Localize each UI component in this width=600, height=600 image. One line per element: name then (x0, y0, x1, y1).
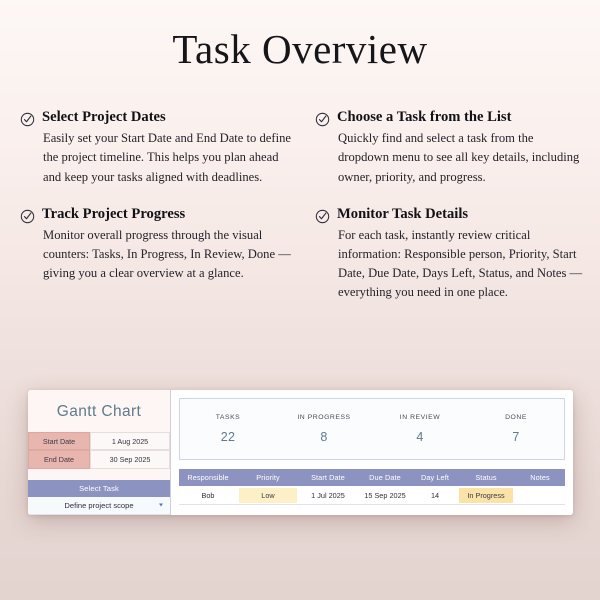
feature-text: Select Project Dates Easily set your Sta… (42, 108, 307, 187)
circled-check-icon (315, 209, 330, 224)
page-title: Task Overview (0, 0, 600, 72)
column-header-start-date[interactable]: Start Date (299, 469, 357, 486)
feature-description: Quickly find and select a task from the … (337, 129, 587, 186)
column-header-notes[interactable]: Notes (515, 469, 565, 486)
end-date-row: End Date 30 Sep 2025 (28, 450, 170, 468)
counter-value: 22 (221, 430, 236, 444)
column-header-due-date[interactable]: Due Date (357, 469, 413, 486)
feature-item-select-project-dates: Select Project Dates Easily set your Sta… (20, 108, 307, 187)
counter-tasks: TASKS 22 (180, 399, 276, 459)
feature-item-choose-a-task: Choose a Task from the List Quickly find… (315, 108, 600, 187)
cell-day-left: 14 (413, 486, 457, 504)
counter-value: 8 (320, 430, 327, 444)
counter-in-review: IN REVIEW 4 (372, 399, 468, 459)
start-date-row: Start Date 1 Aug 2025 (28, 432, 170, 450)
feature-grid: Select Project Dates Easily set your Sta… (0, 72, 600, 302)
circled-check-icon (20, 112, 35, 127)
circled-check-icon (315, 112, 330, 127)
counter-in-progress: IN PROGRESS 8 (276, 399, 372, 459)
table-row[interactable]: Bob Low 1 Jul 2025 15 Sep 2025 14 In Pro… (179, 486, 565, 505)
column-header-day-left[interactable]: Day Left (413, 469, 457, 486)
counters-bar: TASKS 22 IN PROGRESS 8 IN REVIEW 4 DONE … (179, 398, 565, 460)
counter-value: 7 (512, 430, 519, 444)
selected-task-label: Define project scope (64, 501, 133, 510)
task-table: Responsible Priority Start Date Due Date… (179, 469, 565, 505)
feature-title: Choose a Task from the List (337, 108, 600, 126)
chevron-down-icon[interactable] (159, 504, 163, 507)
select-task-dropdown[interactable]: Define project scope (28, 497, 170, 515)
gantt-right-panel: TASKS 22 IN PROGRESS 8 IN REVIEW 4 DONE … (171, 390, 573, 515)
end-date-input[interactable]: 30 Sep 2025 (90, 450, 170, 468)
feature-description: Easily set your Start Date and End Date … (42, 129, 292, 186)
column-header-responsible[interactable]: Responsible (179, 469, 237, 486)
end-date-label: End Date (28, 450, 90, 468)
counter-label: TASKS (216, 414, 241, 421)
column-header-status[interactable]: Status (457, 469, 515, 486)
counter-label: IN REVIEW (400, 414, 440, 421)
start-date-label: Start Date (28, 432, 90, 450)
gantt-left-panel: Gantt Chart Start Date 1 Aug 2025 End Da… (28, 390, 171, 515)
counter-label: DONE (505, 414, 527, 421)
feature-title: Track Project Progress (42, 205, 307, 223)
cell-priority: Low (237, 486, 299, 504)
feature-text: Track Project Progress Monitor overall p… (42, 205, 307, 284)
counter-label: IN PROGRESS (297, 414, 350, 421)
gantt-chart-title: Gantt Chart (28, 390, 170, 432)
feature-description: Monitor overall progress through the vis… (42, 226, 292, 283)
select-task-header: Select Task (28, 480, 170, 496)
left-panel-spacer (28, 469, 170, 481)
counter-done: DONE 7 (468, 399, 564, 459)
column-header-priority[interactable]: Priority (237, 469, 299, 486)
feature-title: Monitor Task Details (337, 205, 600, 223)
circled-check-icon (20, 209, 35, 224)
feature-item-track-project-progress: Track Project Progress Monitor overall p… (20, 205, 307, 303)
cell-status: In Progress (457, 486, 515, 504)
feature-description: For each task, instantly review critical… (337, 226, 587, 303)
feature-text: Choose a Task from the List Quickly find… (337, 108, 600, 187)
priority-badge: Low (239, 488, 297, 503)
cell-start-date: 1 Jul 2025 (299, 486, 357, 504)
counter-value: 4 (416, 430, 423, 444)
cell-due-date: 15 Sep 2025 (357, 486, 413, 504)
table-header-row: Responsible Priority Start Date Due Date… (179, 469, 565, 486)
gantt-app-preview: Gantt Chart Start Date 1 Aug 2025 End Da… (28, 390, 573, 515)
cell-responsible: Bob (179, 486, 237, 504)
feature-text: Monitor Task Details For each task, inst… (337, 205, 600, 303)
feature-item-monitor-task-details: Monitor Task Details For each task, inst… (315, 205, 600, 303)
feature-title: Select Project Dates (42, 108, 307, 126)
status-badge: In Progress (459, 488, 513, 503)
start-date-input[interactable]: 1 Aug 2025 (90, 432, 170, 450)
cell-notes (515, 486, 565, 504)
